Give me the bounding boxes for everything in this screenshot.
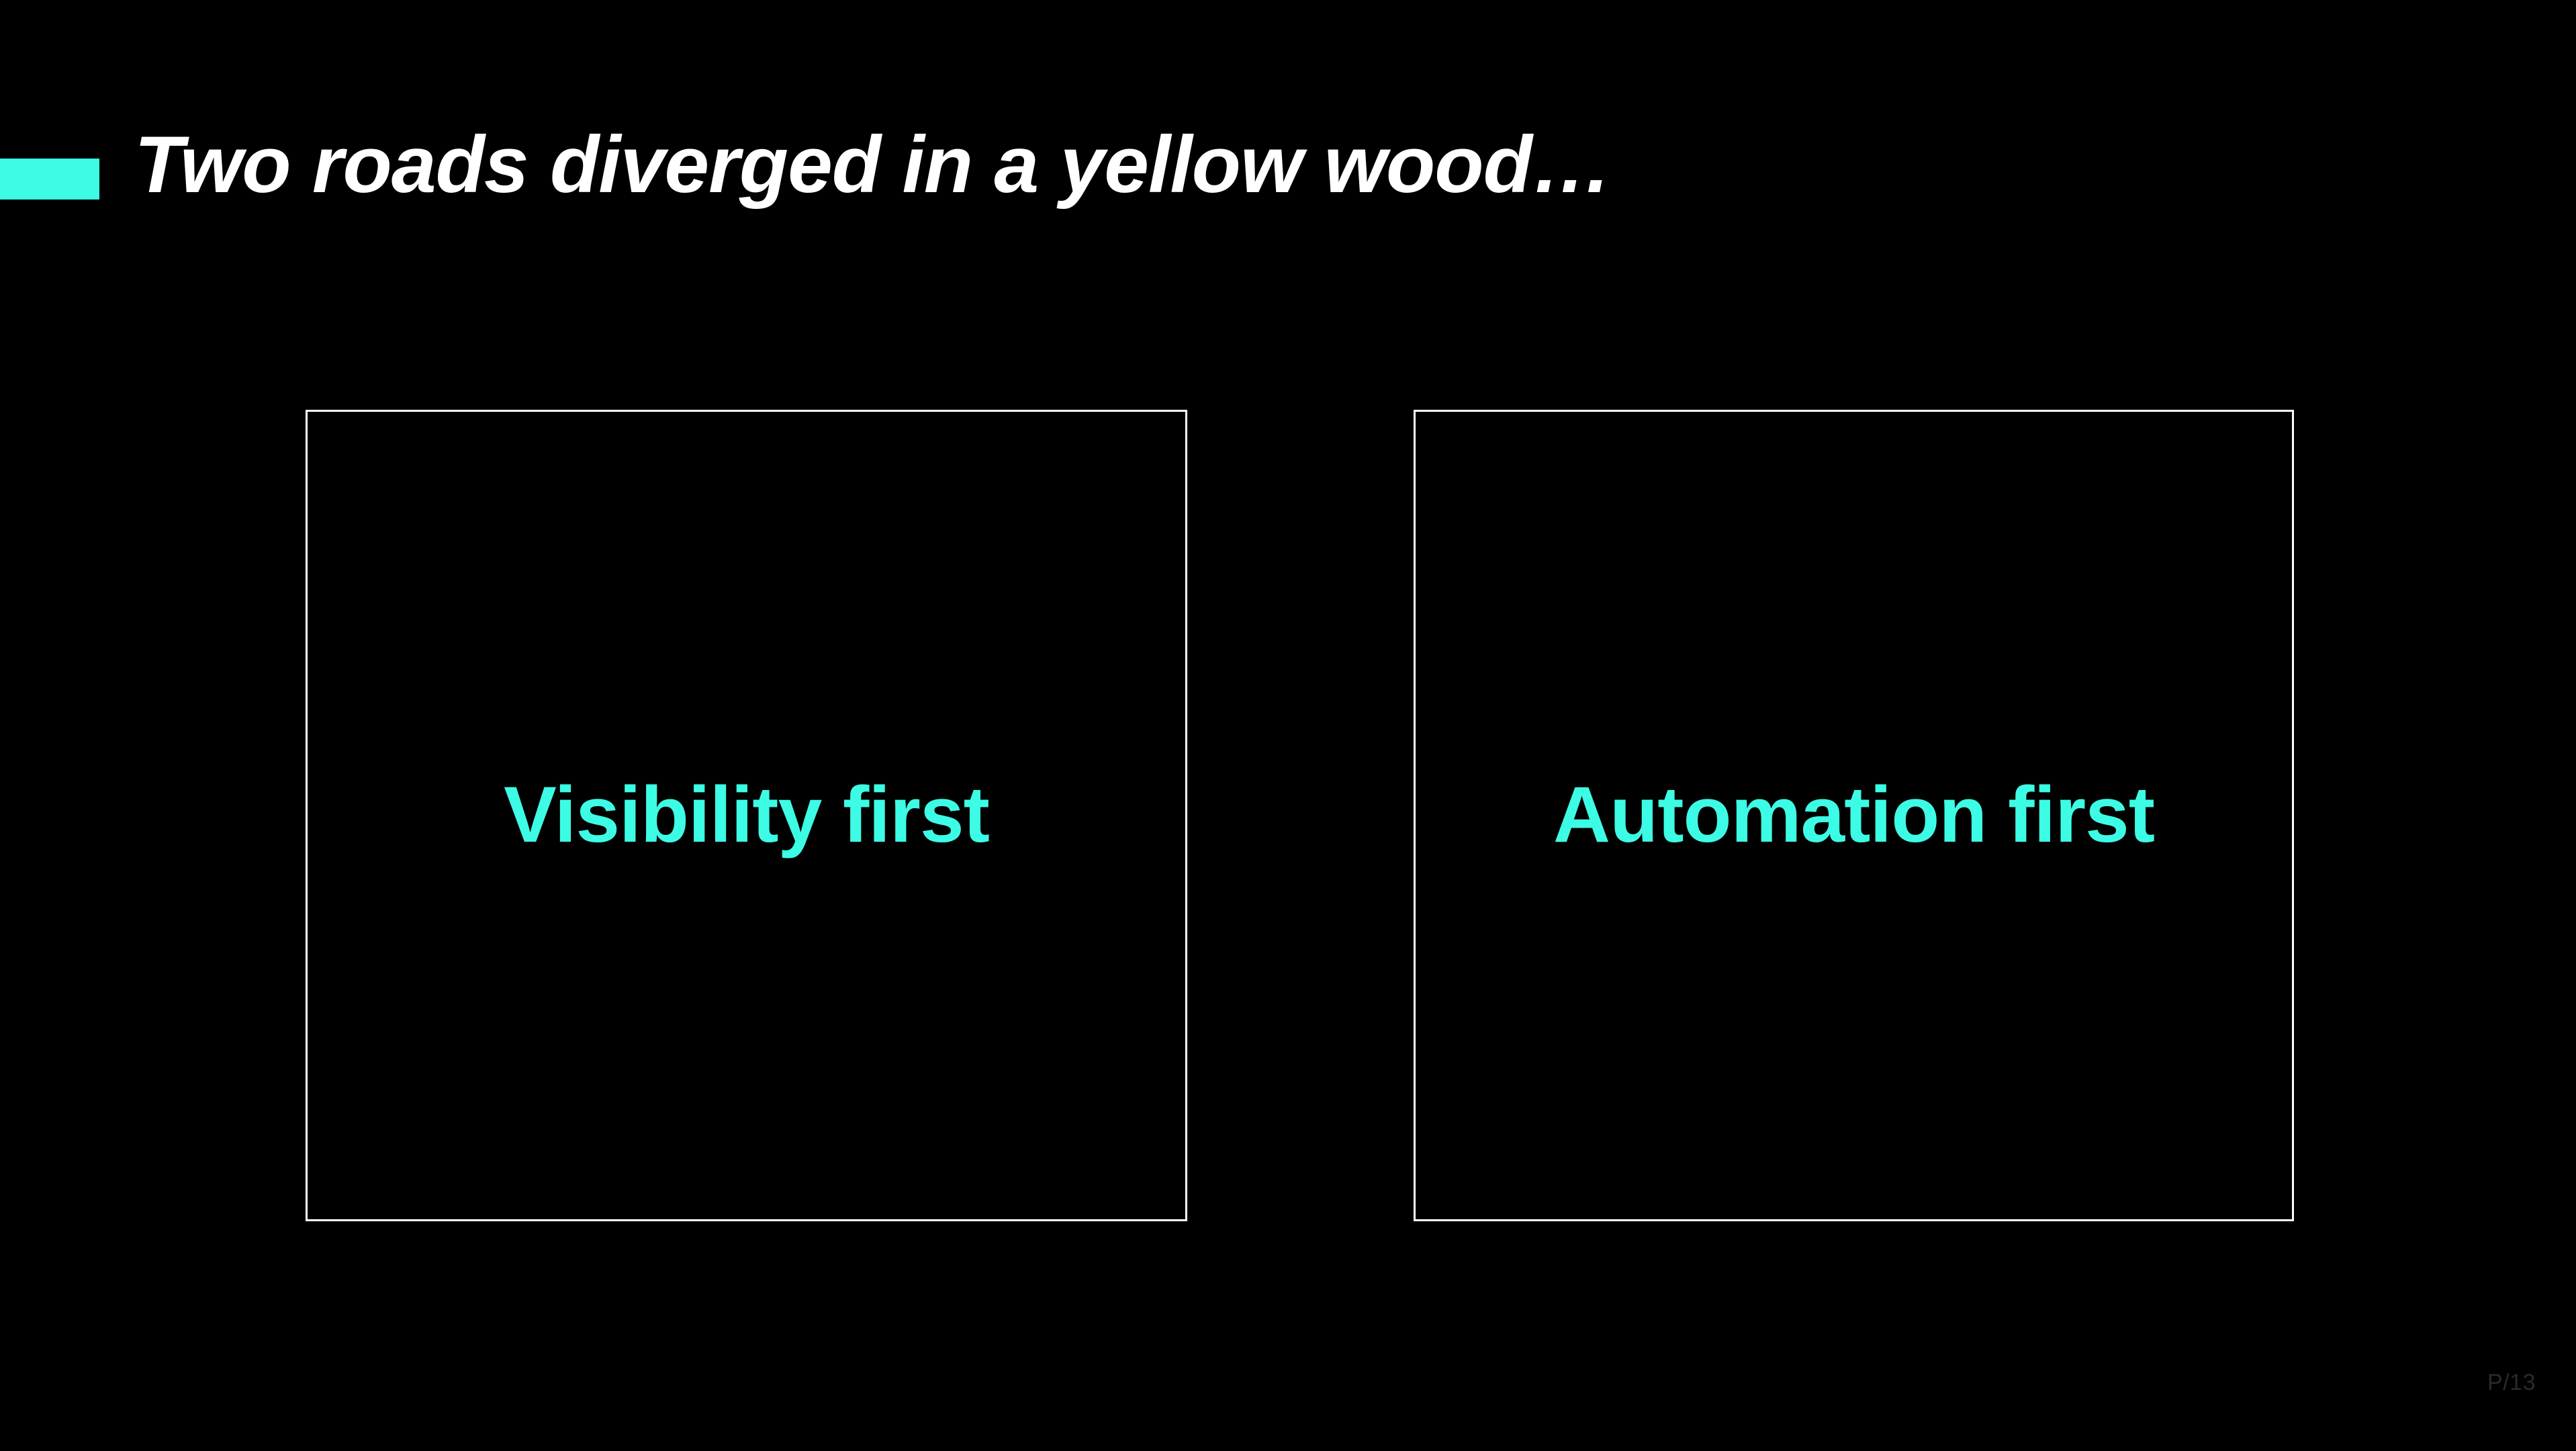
option-card-label: Visibility first bbox=[504, 772, 989, 859]
option-card-visibility-first[interactable]: Visibility first bbox=[306, 410, 1187, 1221]
options-container: Visibility first Automation first bbox=[0, 0, 2576, 1451]
slide-canvas: Two roads diverged in a yellow wood… Vis… bbox=[0, 0, 2576, 1451]
option-card-label: Automation first bbox=[1553, 772, 2154, 859]
page-number: P/13 bbox=[2487, 1370, 2536, 1396]
option-card-automation-first[interactable]: Automation first bbox=[1414, 410, 2294, 1221]
